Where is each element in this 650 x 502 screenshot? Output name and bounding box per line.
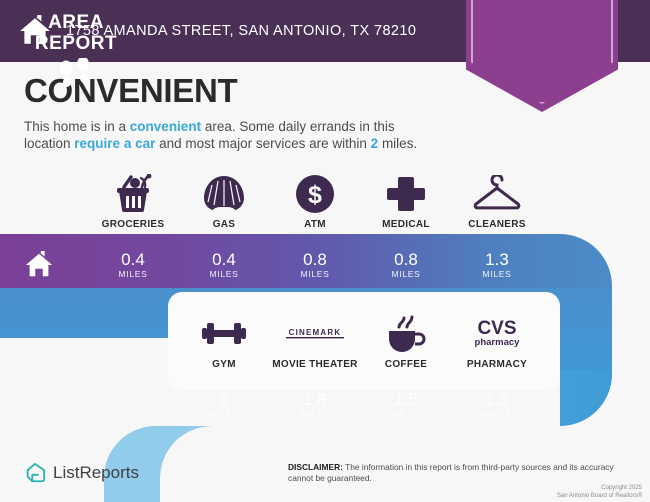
subtitle-part-3: and most major services are within <box>155 136 370 151</box>
distance-gym: 2 MILES <box>174 390 274 419</box>
distance-value: 0.4 <box>83 250 183 269</box>
distance-unit: MILES <box>83 269 183 279</box>
shell-gas-icon <box>174 172 274 216</box>
distance-cleaners: 1.3 MILES <box>447 250 547 279</box>
page-subtitle: This home is in a convenient area. Some … <box>24 118 444 152</box>
copyright: Copyright 2025 San Antonio Board of Real… <box>402 484 642 500</box>
distance-groceries: 0.4 MILES <box>83 250 183 279</box>
distance-medical: 0.8 MILES <box>356 250 456 279</box>
area-report-page: 1758 AMANDA STREET, SAN ANTONIO, TX 7821… <box>0 0 650 502</box>
svg-text:CINEMARK: CINEMARK <box>289 328 342 337</box>
distance-unit: MILES <box>356 409 456 419</box>
disclaimer: DISCLAIMER: The information in this repo… <box>288 462 638 484</box>
distance-unit: MILES <box>174 269 274 279</box>
distance-value: 0.8 <box>356 250 456 269</box>
amenity-label: PHARMACY <box>447 359 547 370</box>
medical-cross-icon <box>356 172 456 216</box>
amenity-gas[interactable]: GAS <box>174 172 274 230</box>
amenity-coffee[interactable]: COFFEE <box>356 312 456 370</box>
disclaimer-label: DISCLAIMER: <box>288 462 343 472</box>
distance-unit: MILES <box>447 269 547 279</box>
amenity-label: GROCERIES <box>83 219 183 230</box>
amenity-medical[interactable]: MEDICAL <box>356 172 456 230</box>
distance-value: 1.5 <box>356 390 456 409</box>
distance-unit: MILES <box>265 409 365 419</box>
distance-value: 0.4 <box>174 250 274 269</box>
svg-text:CVS: CVS <box>477 318 516 339</box>
distance-unit: MILES <box>174 409 274 419</box>
copyright-line-1: Copyright 2025 <box>402 484 642 492</box>
badge-title: AREA REPORT <box>0 12 152 54</box>
amenity-atm[interactable]: $ ATM <box>265 172 365 230</box>
listreports-house-icon <box>24 462 46 484</box>
amenity-label: CLEANERS <box>447 219 547 230</box>
subtitle-part-1: This home is in a <box>24 119 130 134</box>
distance-value: 1.3 <box>447 390 547 409</box>
grocery-basket-icon <box>83 172 183 216</box>
cinemark-logo-icon: CINEMARK <box>265 312 365 356</box>
amenity-groceries[interactable]: GROCERIES <box>83 172 183 230</box>
amenity-gym[interactable]: GYM <box>174 312 274 370</box>
distance-unit: MILES <box>356 269 456 279</box>
distance-unit: MILES <box>265 269 365 279</box>
svg-text:$: $ <box>308 181 322 209</box>
amenity-movie-theater[interactable]: CINEMARK MOVIE THEATER <box>265 312 365 370</box>
footprints-icon <box>56 58 96 92</box>
distance-coffee: 1.5 MILES <box>356 390 456 419</box>
coffee-cup-icon <box>356 312 456 356</box>
copyright-line-2: San Antonio Board of Realtors® <box>402 492 642 500</box>
amenity-label: ATM <box>265 219 365 230</box>
distance-value: 1.8 <box>265 390 365 409</box>
distance-pharmacy: 1.3 MILES <box>447 390 547 419</box>
amenity-cleaners[interactable]: CLEANERS <box>447 172 547 230</box>
badge-border <box>471 0 613 104</box>
amenity-label: MEDICAL <box>356 219 456 230</box>
area-report-badge <box>466 0 618 112</box>
distance-value: 0.8 <box>265 250 365 269</box>
dumbbell-icon <box>174 312 274 356</box>
distance-gas: 0.4 MILES <box>174 250 274 279</box>
badge-line-2: REPORT <box>35 33 117 54</box>
listreports-logo[interactable]: ListReports <box>24 462 139 484</box>
amenity-pharmacy[interactable]: CVS pharmacy PHARMACY <box>447 312 547 370</box>
amenity-label: MOVIE THEATER <box>265 359 365 370</box>
dollar-circle-icon: $ <box>265 172 365 216</box>
ribbon-home-icon <box>24 250 54 280</box>
amenity-label: GYM <box>174 359 274 370</box>
distance-value: 2 <box>174 390 274 409</box>
subtitle-part-4: miles. <box>378 136 417 151</box>
cvs-pharmacy-logo-icon: CVS pharmacy <box>447 312 547 356</box>
badge-line-1: AREA <box>48 12 104 33</box>
listreports-wordmark: ListReports <box>53 463 139 483</box>
subtitle-highlight-2: require a car <box>74 136 155 151</box>
distance-value: 1.3 <box>447 250 547 269</box>
subtitle-highlight-1: convenient <box>130 119 201 134</box>
amenity-label: COFFEE <box>356 359 456 370</box>
clothes-hanger-icon <box>447 172 547 216</box>
distance-movie-theater: 1.8 MILES <box>265 390 365 419</box>
distance-atm: 0.8 MILES <box>265 250 365 279</box>
amenity-label: GAS <box>174 219 274 230</box>
svg-text:pharmacy: pharmacy <box>475 337 521 348</box>
distance-unit: MILES <box>447 409 547 419</box>
